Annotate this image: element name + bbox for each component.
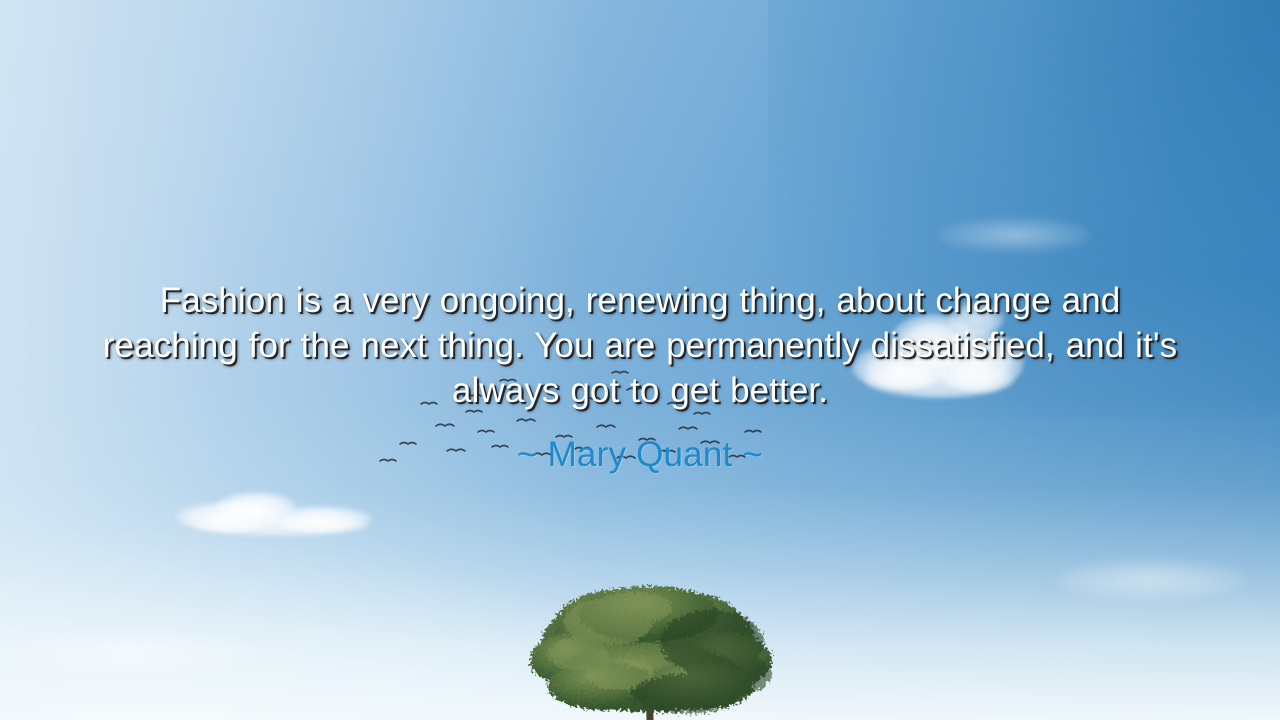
oak-tree (516, 578, 782, 720)
quote-image-scene: Fashion is a very ongoing, renewing thin… (0, 0, 1280, 720)
quote-attribution: ~ Mary Quant ~ (0, 434, 1280, 476)
quote-text: Fashion is a very ongoing, renewing thin… (92, 278, 1188, 413)
quote-block: Fashion is a very ongoing, renewing thin… (0, 278, 1280, 476)
